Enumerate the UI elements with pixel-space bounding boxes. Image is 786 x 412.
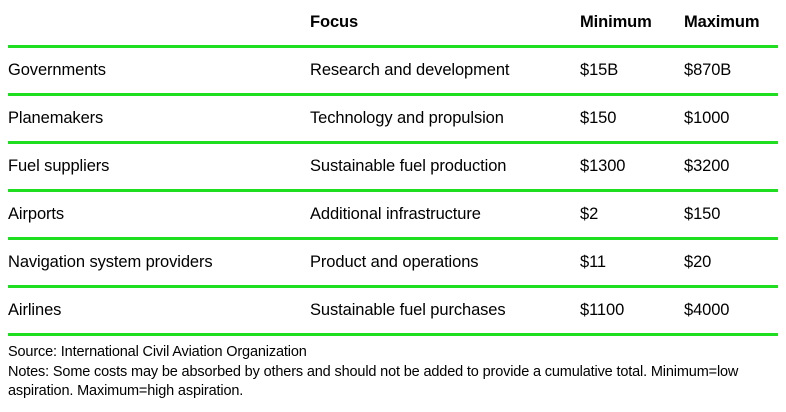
cell-focus: Product and operations xyxy=(310,253,580,272)
cell-minimum: $1100 xyxy=(580,301,684,320)
cell-maximum: $20 xyxy=(684,253,778,272)
table-row: Navigation system providers Product and … xyxy=(8,240,778,285)
source-line: Source: International Civil Aviation Org… xyxy=(8,343,778,363)
cell-focus: Technology and propulsion xyxy=(310,109,580,128)
column-header-maximum: Maximum xyxy=(684,13,778,32)
cell-focus: Additional infrastructure xyxy=(310,205,580,224)
table-header-row: Focus Minimum Maximum xyxy=(8,0,778,45)
cell-minimum: $15B xyxy=(580,61,684,80)
cell-entity: Navigation system providers xyxy=(8,253,310,272)
cell-entity: Fuel suppliers xyxy=(8,157,310,176)
cost-table-figure: Focus Minimum Maximum Governments Resear… xyxy=(0,0,786,412)
table-row: Airports Additional infrastructure $2 $1… xyxy=(8,192,778,237)
cell-minimum: $150 xyxy=(580,109,684,128)
column-header-minimum: Minimum xyxy=(580,13,684,32)
table-row: Fuel suppliers Sustainable fuel producti… xyxy=(8,144,778,189)
cell-minimum: $2 xyxy=(580,205,684,224)
table-row: Planemakers Technology and propulsion $1… xyxy=(8,96,778,141)
cell-maximum: $3200 xyxy=(684,157,778,176)
cell-maximum: $150 xyxy=(684,205,778,224)
cell-focus: Research and development xyxy=(310,61,580,80)
cell-entity: Governments xyxy=(8,61,310,80)
cell-maximum: $1000 xyxy=(684,109,778,128)
cell-entity: Planemakers xyxy=(8,109,310,128)
cell-focus: Sustainable fuel production xyxy=(310,157,580,176)
cell-maximum: $870B xyxy=(684,61,778,80)
table-row: Airlines Sustainable fuel purchases $110… xyxy=(8,288,778,333)
notes-line: Notes: Some costs may be absorbed by oth… xyxy=(8,363,770,402)
table-footnotes: Source: International Civil Aviation Org… xyxy=(8,336,778,402)
cell-minimum: $1300 xyxy=(580,157,684,176)
column-header-focus: Focus xyxy=(310,13,580,32)
cell-entity: Airlines xyxy=(8,301,310,320)
cell-maximum: $4000 xyxy=(684,301,778,320)
cell-minimum: $11 xyxy=(580,253,684,272)
table-row: Governments Research and development $15… xyxy=(8,48,778,93)
cell-focus: Sustainable fuel purchases xyxy=(310,301,580,320)
cell-entity: Airports xyxy=(8,205,310,224)
